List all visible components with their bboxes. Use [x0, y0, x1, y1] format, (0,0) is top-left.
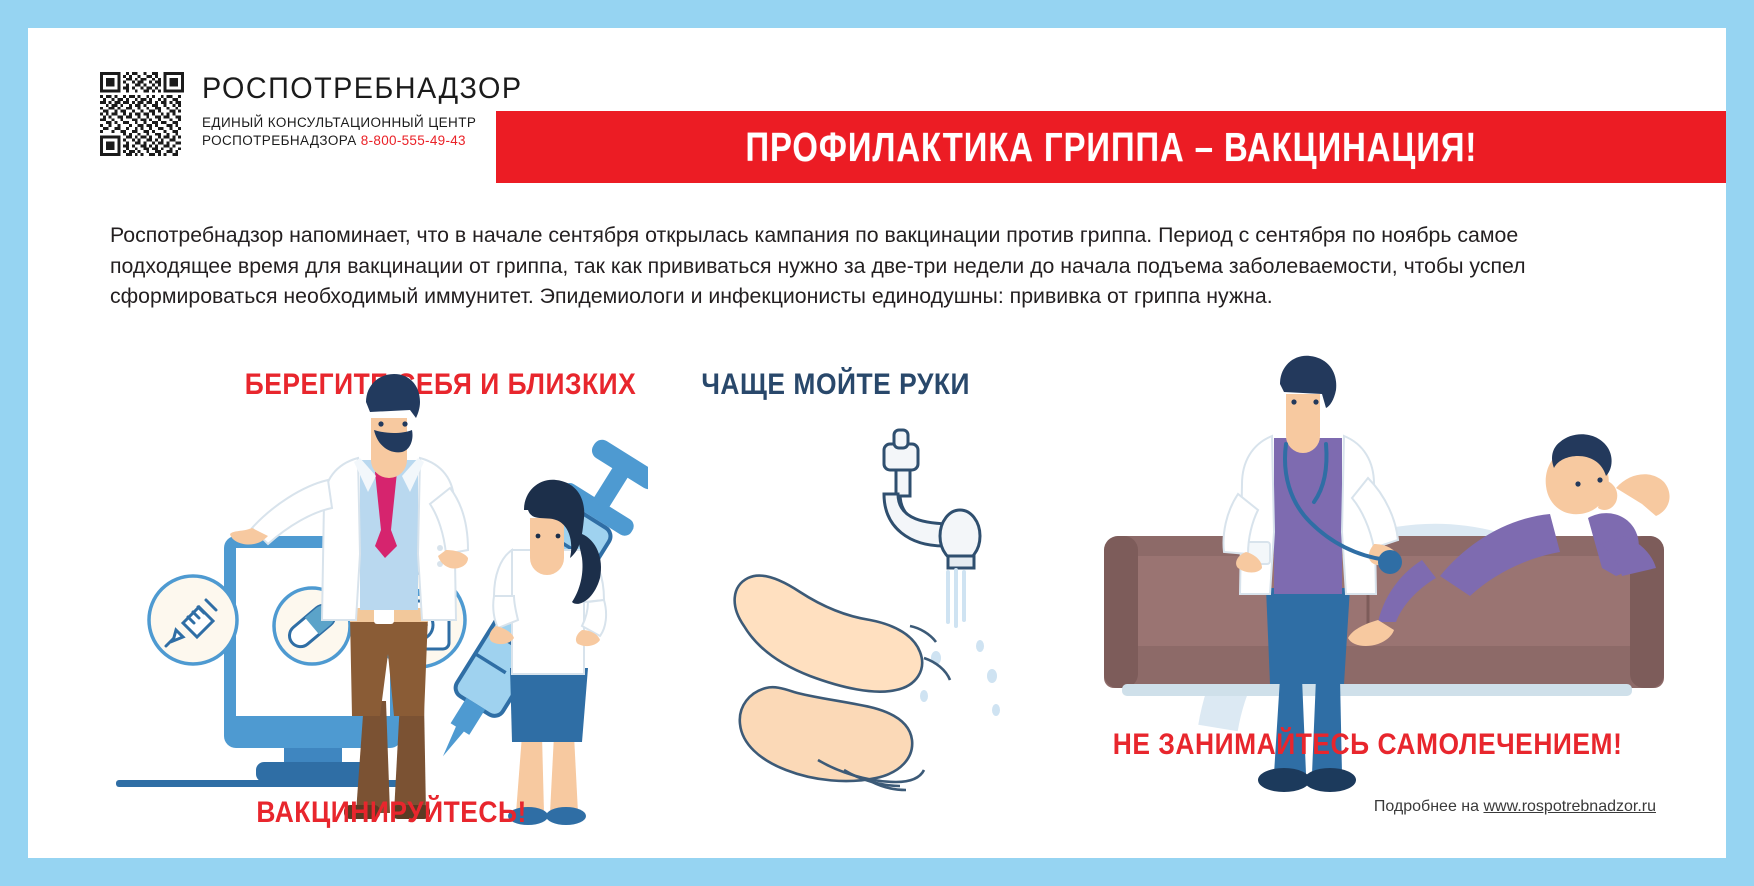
panel-protect-yourself: БЕРЕГИТЕ СЕБЯ И БЛИЗКИХ: [88, 358, 648, 828]
panel-wash-hands: ЧАЩЕ МОЙТЕ РУКИ: [648, 358, 1088, 828]
logo-text-block: РОСПОТРЕБНАДЗОР ЕДИНЫЙ КОНСУЛЬТАЦИОННЫЙ …: [202, 72, 536, 150]
illustration-doctor-nurse-syringe: [88, 358, 648, 828]
poster-card: РОСПОТРЕБНАДЗОР ЕДИНЫЙ КОНСУЛЬТАЦИОННЫЙ …: [28, 28, 1726, 858]
qr-code-icon: [100, 72, 184, 156]
panel-no-self-medication: НЕ ЗАНИМАЙТЕСЬ САМОЛЕЧЕНИЕМ!: [1068, 328, 1708, 798]
rospotrebnadzor-logo: РОСПОТРЕБНАДЗОР ЕДИНЫЙ КОНСУЛЬТАЦИОННЫЙ …: [100, 72, 536, 156]
org-name: РОСПОТРЕБНАДЗОР: [202, 74, 523, 104]
footer-note: Подробнее на www.rospotrebnadzor.ru: [1374, 798, 1656, 816]
panel-vaccinate-caption: ВАКЦИНИРУЙТЕСЬ!: [256, 796, 526, 830]
doctor-figure-2: [1224, 356, 1402, 792]
footer-url[interactable]: www.rospotrebnadzor.ru: [1483, 798, 1656, 815]
org-subtitle-line2: РОСПОТРЕБНАДЗОРА: [202, 133, 357, 148]
footer-prefix: Подробнее на: [1374, 798, 1484, 815]
monitor-icon-syringe: [149, 576, 237, 664]
org-subtitle: ЕДИНЫЙ КОНСУЛЬТАЦИОННЫЙ ЦЕНТР РОСПОТРЕБН…: [202, 114, 536, 150]
banner: ПРОФИЛАКТИКА ГРИППА – ВАКЦИНАЦИЯ!: [496, 111, 1726, 183]
hotline-phone: 8-800-555-49-43: [361, 133, 466, 148]
panel-selfmed-title: НЕ ЗАНИМАЙТЕСЬ САМОЛЕЧЕНИЕМ!: [1113, 728, 1623, 762]
org-subtitle-line1: ЕДИНЫЙ КОНСУЛЬТАЦИОННЫЙ ЦЕНТР: [202, 115, 476, 130]
banner-title: ПРОФИЛАКТИКА ГРИППА – ВАКЦИНАЦИЯ!: [745, 124, 1477, 171]
poster-header: РОСПОТРЕБНАДЗОР ЕДИНЫЙ КОНСУЛЬТАЦИОННЫЙ …: [28, 28, 1726, 150]
illustration-washing-hands: [648, 358, 1088, 828]
intro-paragraph: Роспотребнадзор напоминает, что в начале…: [110, 220, 1640, 312]
